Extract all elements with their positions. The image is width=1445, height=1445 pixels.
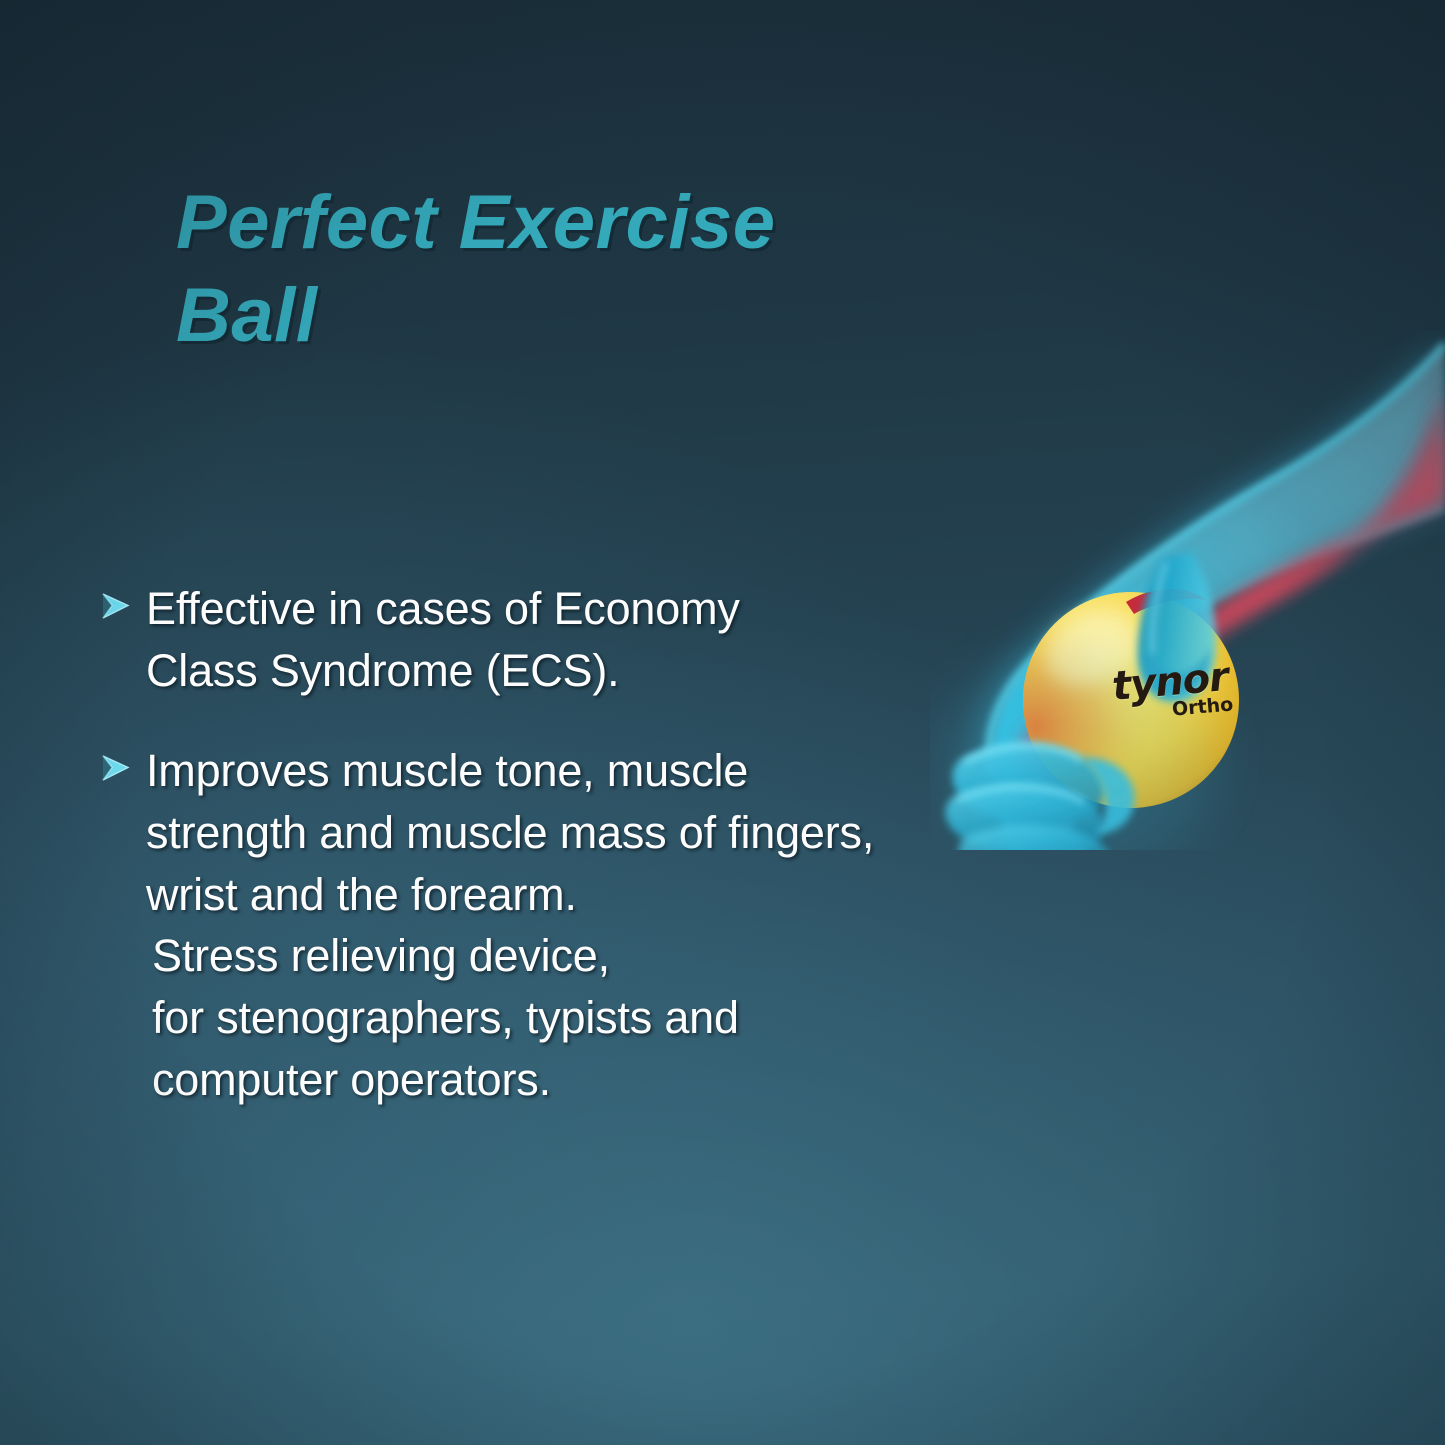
- page-title: Perfect Exercise Ball: [176, 176, 996, 363]
- feature-bullet-list: Effective in cases of Economy Class Synd…: [100, 578, 1060, 964]
- list-item-label: Effective in cases of Economy Class Synd…: [146, 578, 1060, 702]
- extra-line-2: for stenographers, typists and: [152, 987, 1052, 1049]
- list-item: Effective in cases of Economy Class Synd…: [100, 578, 1060, 702]
- extra-line-3: computer operators.: [152, 1049, 1052, 1111]
- list-item-label: Improves muscle tone, muscle strength an…: [146, 740, 1060, 926]
- product-feature-slide: tynor Ortho Perfect Exercise Ball Effect…: [0, 0, 1445, 1445]
- arrowhead-bullet-icon: [100, 578, 146, 627]
- list-item: Improves muscle tone, muscle strength an…: [100, 740, 1060, 926]
- extra-line-1: Stress relieving device,: [152, 925, 1052, 987]
- arrowhead-bullet-icon: [100, 740, 146, 789]
